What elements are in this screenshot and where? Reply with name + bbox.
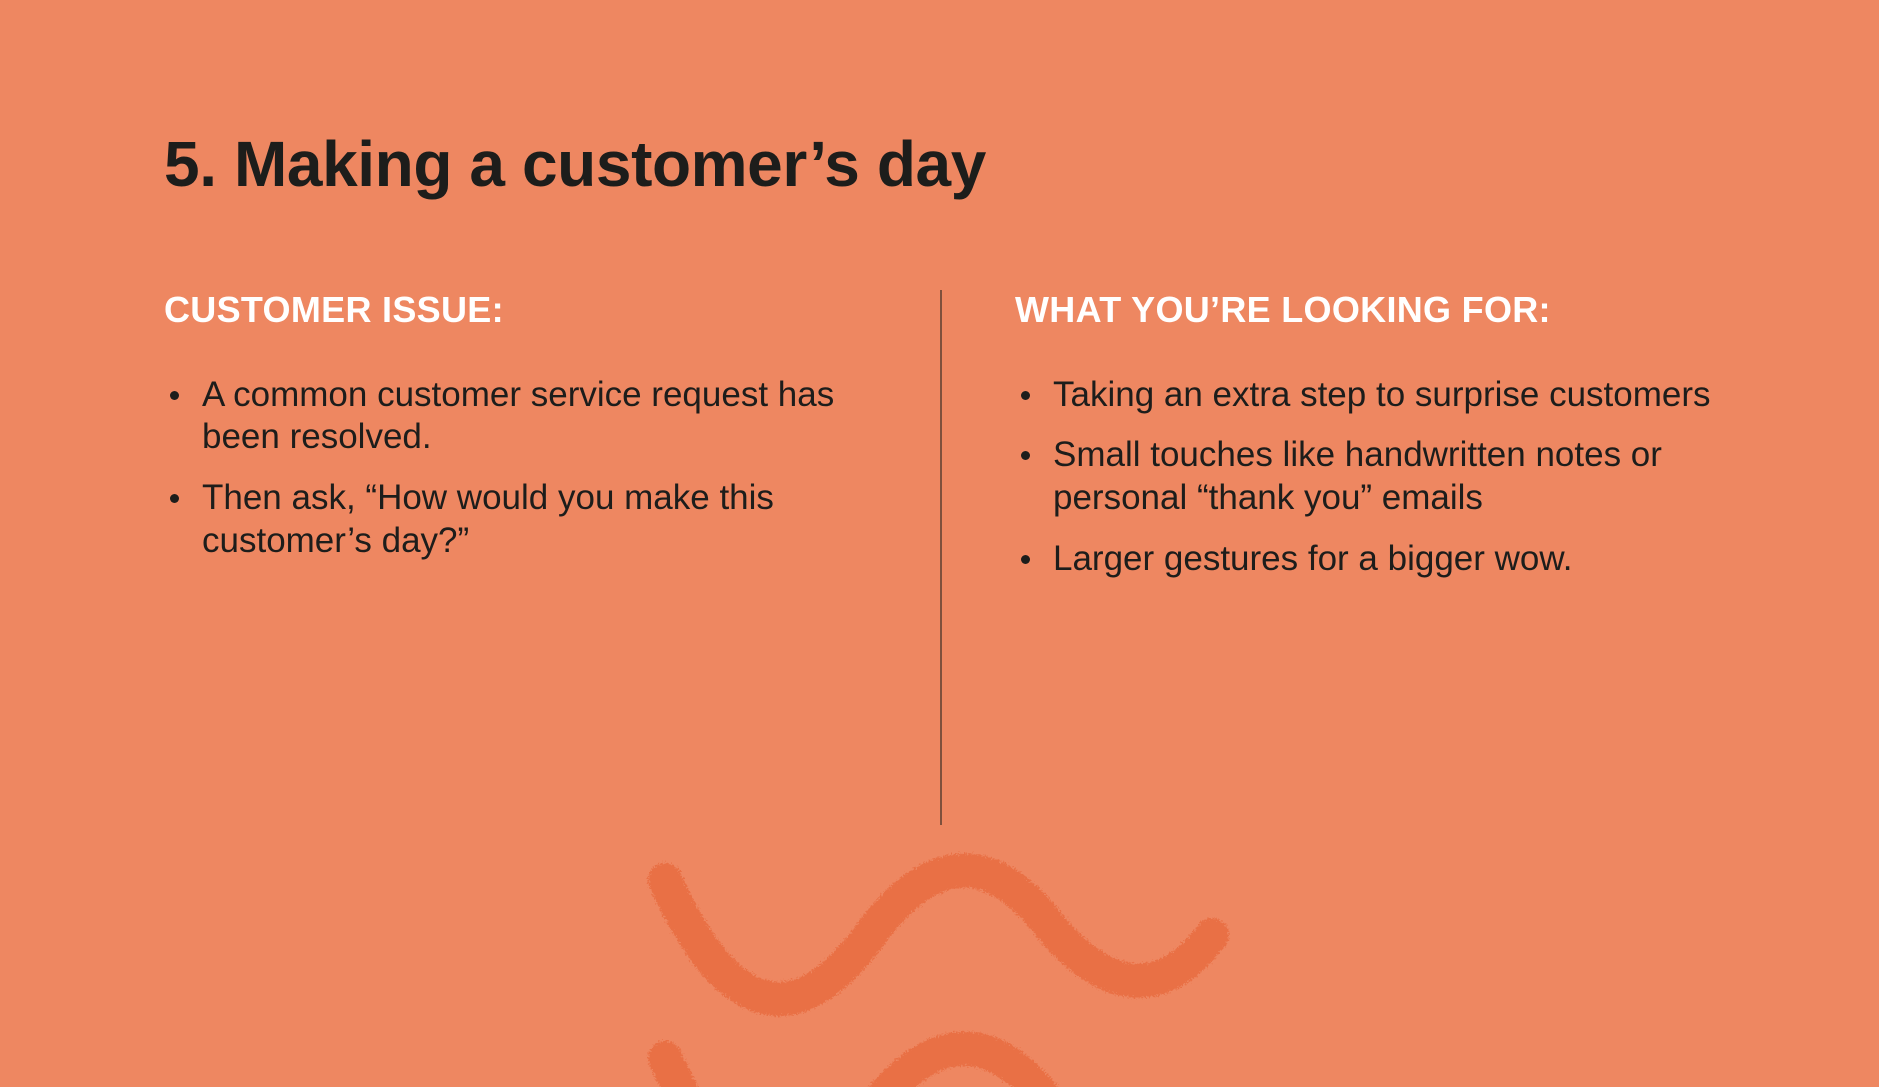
- list-item: Larger gestures for a bigger wow.: [1015, 538, 1805, 581]
- column-customer-issue: CUSTOMER ISSUE: A common customer servic…: [164, 290, 884, 562]
- list-item: Taking an extra step to surprise custome…: [1015, 374, 1805, 417]
- bullet-list-customer-issue: A common customer service request has be…: [164, 374, 884, 563]
- column-looking-for: WHAT YOU’RE LOOKING FOR: Taking an extra…: [1015, 290, 1805, 580]
- column-heading-looking-for: WHAT YOU’RE LOOKING FOR:: [1015, 290, 1805, 330]
- column-heading-customer-issue: CUSTOMER ISSUE:: [164, 290, 884, 330]
- list-item: A common customer service request has be…: [164, 374, 884, 459]
- list-item: Then ask, “How would you make this custo…: [164, 477, 884, 562]
- slide-root: 5. Making a customer’s day CUSTOMER ISSU…: [0, 0, 1879, 1087]
- list-item: Small touches like handwritten notes or …: [1015, 434, 1805, 519]
- column-divider: [940, 290, 942, 825]
- bullet-list-looking-for: Taking an extra step to surprise custome…: [1015, 374, 1805, 581]
- page-title: 5. Making a customer’s day: [164, 131, 986, 198]
